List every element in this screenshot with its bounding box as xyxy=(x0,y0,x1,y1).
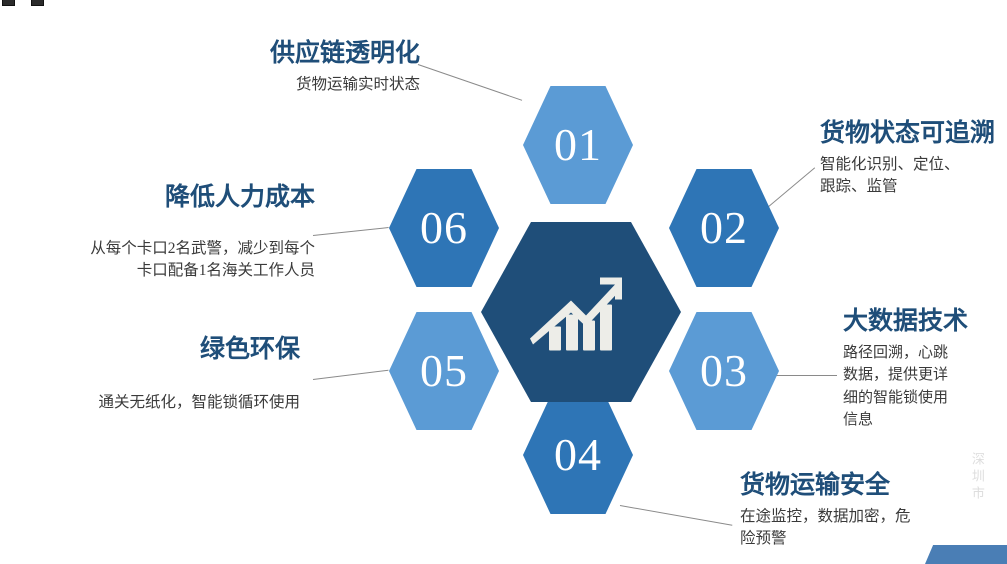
corner-banner xyxy=(925,545,1007,564)
hexagon-02-shape: 02 xyxy=(669,169,779,287)
callout-title: 大数据技术 xyxy=(843,308,1007,336)
leader-line-01 xyxy=(418,64,522,101)
callout-reduce-labor-cost: 降低人力成本 从每个卡口2名武警，减少到每个卡口配备1名海关工作人员 xyxy=(0,184,315,282)
callout-body: 从每个卡口2名武警，减少到每个卡口配备1名海关工作人员 xyxy=(0,238,315,283)
leader-line-04 xyxy=(620,505,732,526)
hexagon-04-number: 04 xyxy=(554,432,602,478)
vertical-watermark-text: 深圳市 xyxy=(968,452,985,503)
center-hexagon xyxy=(481,222,681,402)
hexagon-04-shape: 04 xyxy=(523,396,633,514)
growth-chart-icon xyxy=(529,270,633,361)
leader-line-03 xyxy=(775,375,837,376)
callout-title: 货物状态可追溯 xyxy=(820,120,1007,148)
hexagon-01-number: 01 xyxy=(554,122,602,168)
callout-title: 供应链透明化 xyxy=(140,40,420,68)
hexagon-05-number: 05 xyxy=(420,348,468,394)
callout-title: 降低人力成本 xyxy=(0,184,315,212)
callout-title: 绿色环保 xyxy=(20,336,300,364)
callout-body: 在途监控，数据加密，危险预警 xyxy=(740,506,990,551)
hexagon-01[interactable]: 01 xyxy=(523,86,633,204)
hexagon-02-number: 02 xyxy=(700,205,748,251)
crop-mark-right xyxy=(31,0,44,6)
callout-title: 货物运输安全 xyxy=(740,472,990,500)
hexagon-01-shape: 01 xyxy=(523,86,633,204)
callout-supply-chain-transparency: 供应链透明化 货物运输实时状态 xyxy=(140,40,420,96)
leader-line-05 xyxy=(313,370,389,380)
callout-body: 货物运输实时状态 xyxy=(140,74,420,96)
crop-mark-left xyxy=(2,0,15,6)
hexagon-06-number: 06 xyxy=(420,205,468,251)
hexagon-04[interactable]: 04 xyxy=(523,396,633,514)
hexagon-02[interactable]: 02 xyxy=(669,169,779,287)
leader-line-06 xyxy=(313,227,389,236)
callout-body: 通关无纸化，智能锁循环使用 xyxy=(20,392,300,414)
hexagon-03-shape: 03 xyxy=(669,312,779,430)
hexagon-03-number: 03 xyxy=(700,348,748,394)
infographic-slide: 01 02 03 04 05 06 xyxy=(0,0,1007,564)
callout-body: 智能化识别、定位、跟踪、监管 xyxy=(820,154,1007,199)
callout-green-environmental: 绿色环保 通关无纸化，智能锁循环使用 xyxy=(20,336,300,414)
callout-big-data-technology: 大数据技术 路径回溯，心跳数据，提供更详细的智能锁使用信息 xyxy=(843,308,1007,432)
hexagon-03[interactable]: 03 xyxy=(669,312,779,430)
callout-cargo-transport-safety: 货物运输安全 在途监控，数据加密，危险预警 xyxy=(740,472,990,550)
callout-cargo-status-traceable: 货物状态可追溯 智能化识别、定位、跟踪、监管 xyxy=(820,120,1007,198)
callout-body: 路径回溯，心跳数据，提供更详细的智能锁使用信息 xyxy=(843,342,1007,432)
